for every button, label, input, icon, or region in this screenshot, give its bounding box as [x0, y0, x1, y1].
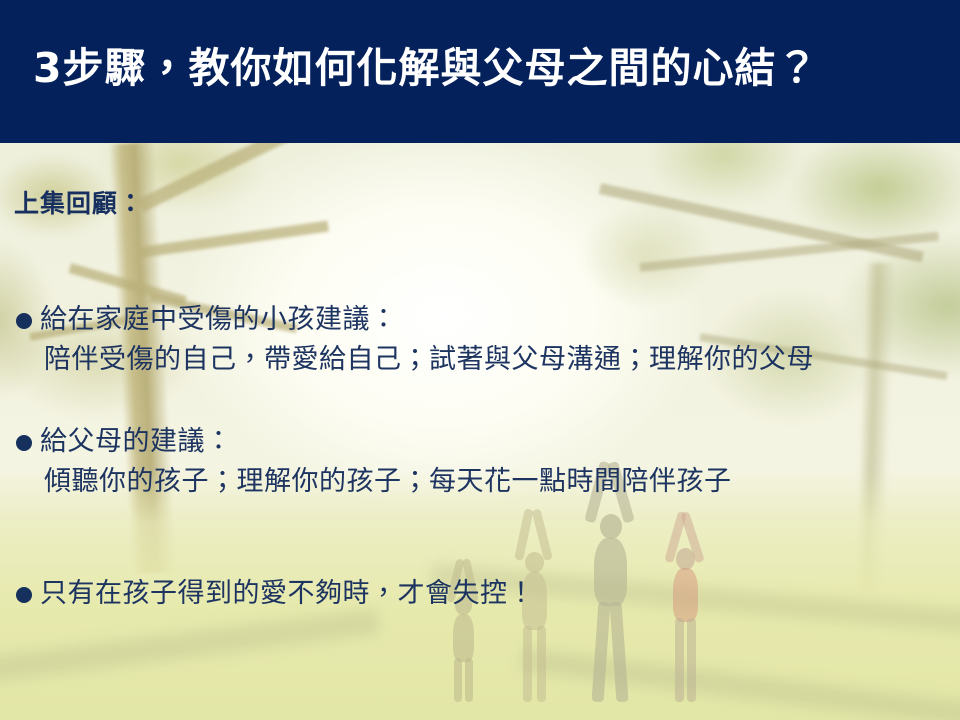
slide: 3步驟，教你如何化解與父母之間的心結？ 上集回顧： 給在家庭中受傷的小孩建議： … [0, 0, 960, 720]
bullet-detail: 陪伴受傷的自己，帶愛給自己；試著與父母溝通；理解你的父母 [14, 340, 954, 380]
section-subheading: 上集回顧： [14, 188, 144, 220]
bullet-dot-icon [16, 435, 32, 451]
bullet-list: 給在家庭中受傷的小孩建議： 陪伴受傷的自己，帶愛給自己；試著與父母溝通；理解你的… [14, 300, 954, 614]
bullet-heading: 給在家庭中受傷的小孩建議： [14, 300, 954, 340]
list-item: 給父母的建議： 傾聽你的孩子；理解你的孩子；每天花一點時間陪伴孩子 [14, 422, 954, 502]
list-item: 給在家庭中受傷的小孩建議： 陪伴受傷的自己，帶愛給自己；試著與父母溝通；理解你的… [14, 300, 954, 380]
bullet-heading-text: 給父母的建議： [40, 426, 233, 457]
bullet-heading-text: 給在家庭中受傷的小孩建議： [40, 304, 398, 335]
page-title: 3步驟，教你如何化解與父母之間的心結？ [33, 42, 933, 94]
bullet-heading: 給父母的建議： [14, 422, 954, 462]
bullet-heading: 只有在孩子得到的愛不夠時，才會失控！ [14, 574, 954, 614]
list-item: 只有在孩子得到的愛不夠時，才會失控！ [14, 574, 954, 614]
bullet-detail: 傾聽你的孩子；理解你的孩子；每天花一點時間陪伴孩子 [14, 462, 954, 502]
bullet-dot-icon [16, 587, 32, 603]
bullet-heading-text: 只有在孩子得到的愛不夠時，才會失控！ [40, 578, 535, 609]
title-bar: 3步驟，教你如何化解與父母之間的心結？ [0, 0, 960, 143]
bullet-dot-icon [16, 313, 32, 329]
